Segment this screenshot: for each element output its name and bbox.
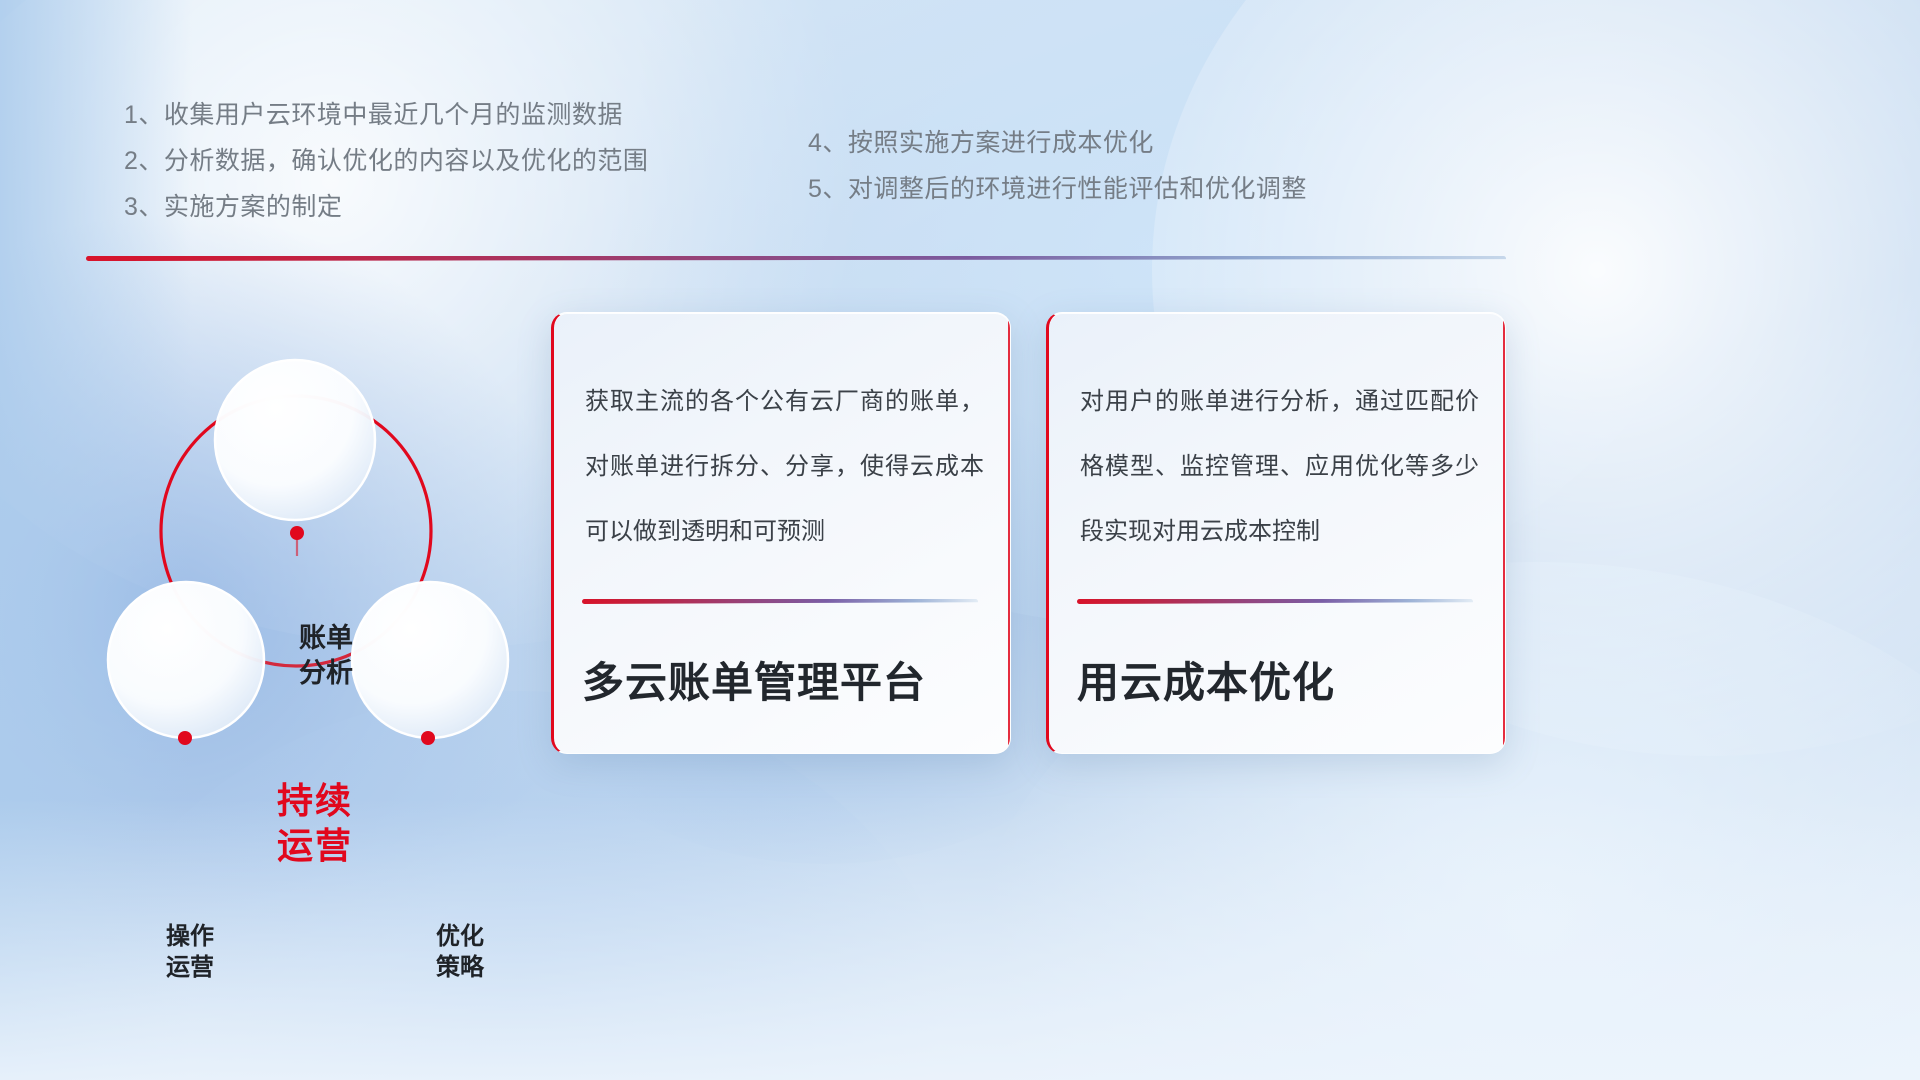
feature-card-title: 用云成本优化: [1077, 649, 1481, 710]
feature-card-divider: [582, 599, 978, 604]
step-item-3: 3、实施方案的制定: [124, 184, 648, 230]
node-label-billing-line2: 分析: [260, 656, 392, 691]
feature-card-cost-optimization[interactable]: 对用户的账单进行分析，通过匹配价格模型、监控管理、应用优化等多少段实现对用云成本…: [1046, 312, 1506, 754]
step-item-1: 1、收集用户云环境中最近几个月的监测数据: [124, 92, 648, 138]
steps-left-column: 1、收集用户云环境中最近几个月的监测数据 2、分析数据，确认优化的内容以及优化的…: [124, 92, 648, 230]
diagram-center-label-line2: 运营: [230, 823, 400, 868]
feature-card-billing-platform[interactable]: 获取主流的各个公有云厂商的账单，对账单进行拆分、分享，使得云成本可以做到透明和可…: [551, 312, 1011, 754]
node-label-operations-line2: 运营: [128, 953, 252, 984]
steps-right-column: 4、按照实施方案进行成本优化 5、对调整后的环境进行性能评估和优化调整: [808, 120, 1307, 212]
diagram-center-label-line1: 持续: [230, 778, 400, 823]
connector-dot-left: [178, 731, 192, 745]
continuous-operation-diagram: 账单 分析 操作 运营 优化 策略 持续 运营: [80, 288, 550, 768]
node-circle-billing: [215, 360, 375, 520]
node-label-billing-line1: 账单: [260, 621, 392, 656]
feature-card-title: 多云账单管理平台: [582, 649, 986, 710]
step-item-2: 2、分析数据，确认优化的内容以及优化的范围: [124, 138, 648, 184]
node-label-strategy: 优化 策略: [398, 922, 522, 983]
feature-card-body: 获取主流的各个公有云厂商的账单，对账单进行拆分、分享，使得云成本可以做到透明和可…: [585, 369, 984, 564]
step-item-4: 4、按照实施方案进行成本优化: [808, 120, 1307, 166]
node-label-strategy-line2: 策略: [398, 953, 522, 984]
node-label-strategy-line1: 优化: [398, 922, 522, 953]
node-label-billing: 账单 分析: [260, 621, 392, 690]
diagram-center-label: 持续 运营: [230, 778, 400, 869]
node-label-operations: 操作 运营: [128, 922, 252, 983]
feature-card-body: 对用户的账单进行分析，通过匹配价格模型、监控管理、应用优化等多少段实现对用云成本…: [1080, 369, 1479, 564]
diagram-svg: [80, 288, 550, 768]
connector-dot-right: [421, 731, 435, 745]
process-steps: 1、收集用户云环境中最近几个月的监测数据 2、分析数据，确认优化的内容以及优化的…: [0, 92, 1920, 252]
feature-card-divider: [1077, 599, 1473, 604]
step-item-5: 5、对调整后的环境进行性能评估和优化调整: [808, 166, 1307, 212]
node-label-operations-line1: 操作: [128, 922, 252, 953]
node-circle-operations: [108, 582, 264, 738]
